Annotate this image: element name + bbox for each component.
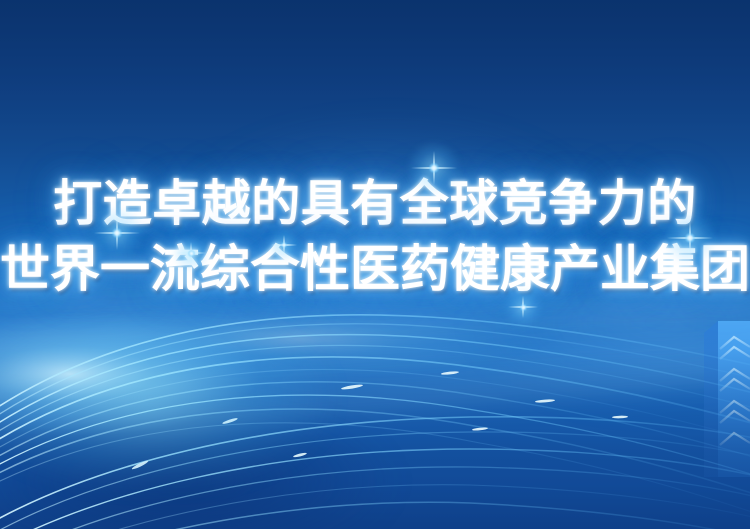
stream-light-core	[0, 307, 330, 487]
headline-line-1: 打造卓越的具有全球竞争力的	[0, 172, 750, 236]
skyline-tower-icon	[694, 309, 750, 477]
headline-block: 打造卓越的具有全球竞争力的 世界一流综合性医药健康产业集团	[0, 172, 750, 302]
top-vignette	[0, 0, 750, 212]
headline-line-2: 世界一流综合性医药健康产业集团	[0, 236, 750, 302]
sky-glow-right	[480, 243, 750, 402]
promotional-banner: 打造卓越的具有全球竞争力的 世界一流综合性医药健康产业集团	[0, 0, 750, 529]
